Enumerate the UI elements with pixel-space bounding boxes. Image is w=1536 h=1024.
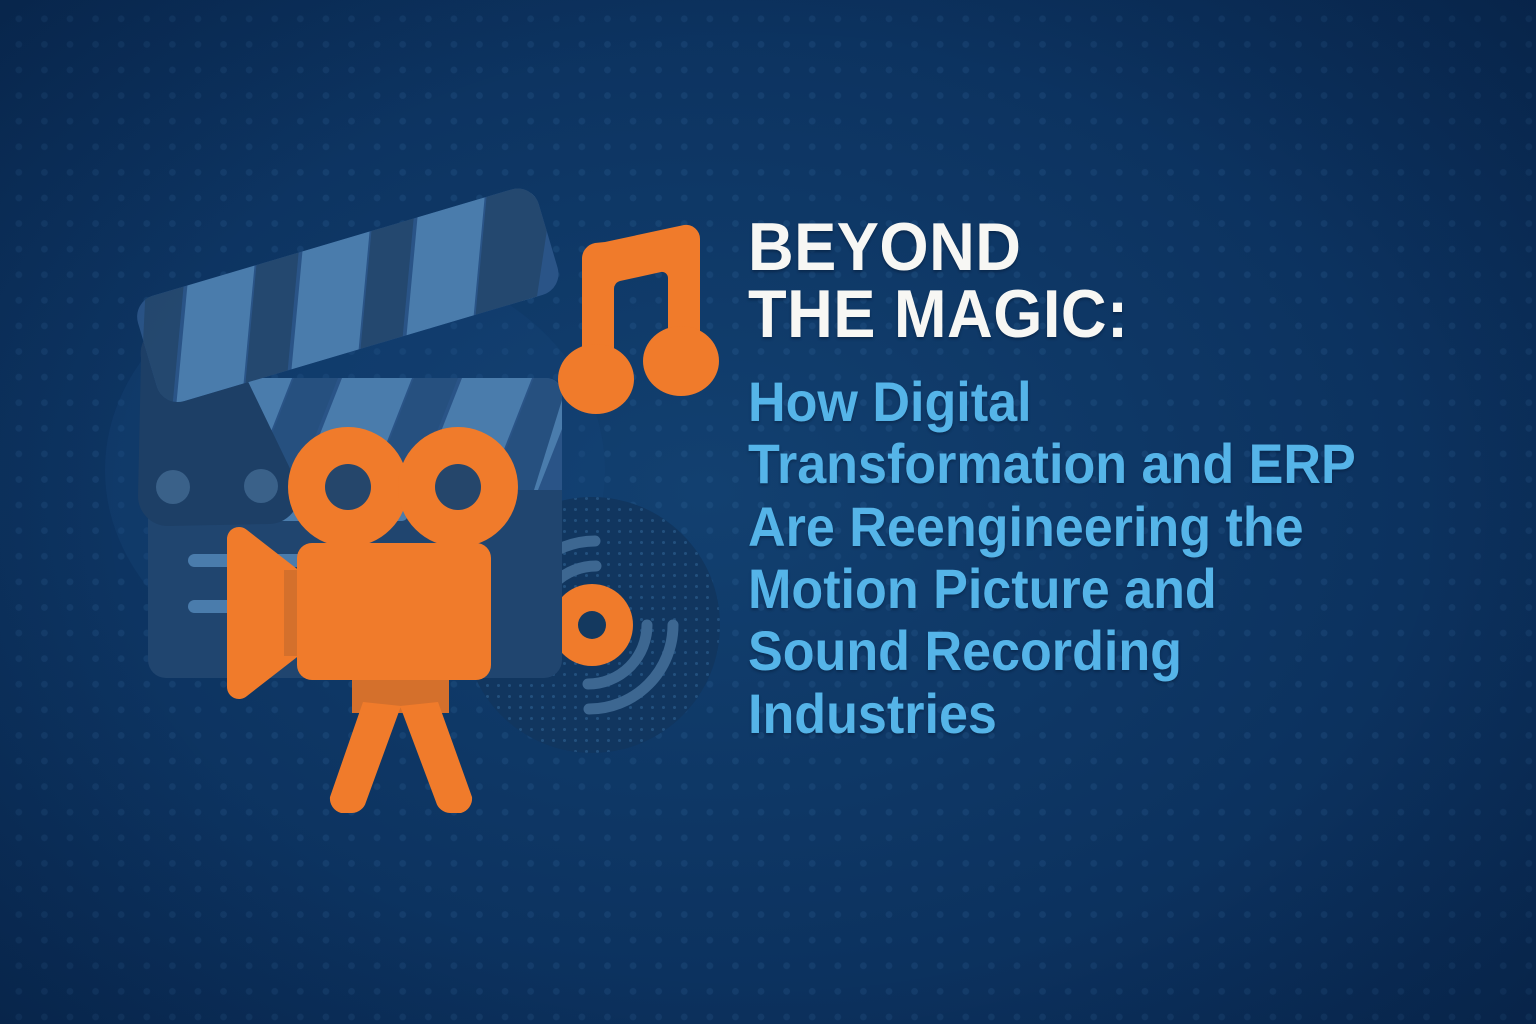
headline-line-2: THE MAGIC: [748, 281, 1399, 348]
music-note-head-right [643, 326, 719, 396]
subhead-line-6: Industries [748, 683, 1399, 745]
page-title: BEYOND THE MAGIC: [748, 214, 1399, 349]
media-production-illustration [0, 0, 760, 1024]
camera-tripod [330, 671, 472, 813]
headline-line-1: BEYOND [748, 214, 1399, 281]
music-note-icon [558, 225, 719, 414]
page-subtitle: How Digital Transformation and ERP Are R… [748, 371, 1399, 746]
camera-reel-right [398, 427, 518, 547]
camera-body [297, 543, 491, 680]
subhead-line-5: Sound Recording [748, 620, 1399, 682]
hinge-rivet-bottom-right [244, 469, 278, 503]
vinyl-center-hole [578, 611, 606, 639]
subhead-line-4: Motion Picture and [748, 558, 1399, 620]
tripod-leg-right [400, 702, 472, 813]
subhead-line-3: Are Reengineering the [748, 496, 1399, 558]
music-note-head-left [558, 344, 634, 414]
poster-canvas: BEYOND THE MAGIC: How Digital Transforma… [0, 0, 1536, 1024]
hinge-rivet-bottom-left [156, 470, 190, 504]
subhead-line-2: Transformation and ERP [748, 433, 1399, 495]
camera-reel-left [288, 427, 408, 547]
tripod-leg-left [330, 702, 401, 813]
subhead-line-1: How Digital [748, 371, 1399, 433]
poster-text-block: BEYOND THE MAGIC: How Digital Transforma… [748, 214, 1448, 745]
